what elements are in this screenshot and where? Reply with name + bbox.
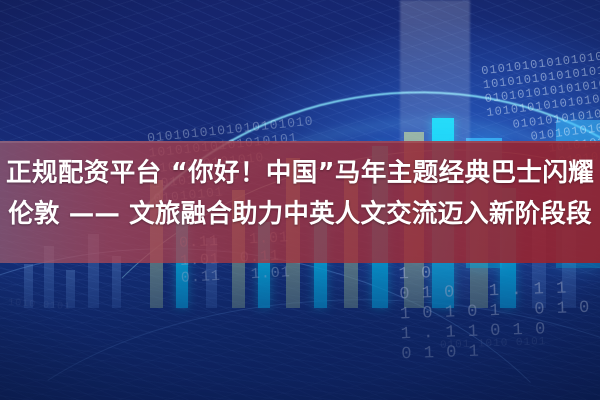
article-thumbnail: 0101010101010101 1010101010101010 010101… — [0, 0, 600, 400]
bottom-shade — [0, 263, 600, 400]
band-top-highlight — [0, 141, 600, 143]
headline-text: 正规配资平台 “你好！中国”马年主题经典巴士闪耀伦敦 —— 文旅融合助力中英人文… — [0, 153, 600, 235]
